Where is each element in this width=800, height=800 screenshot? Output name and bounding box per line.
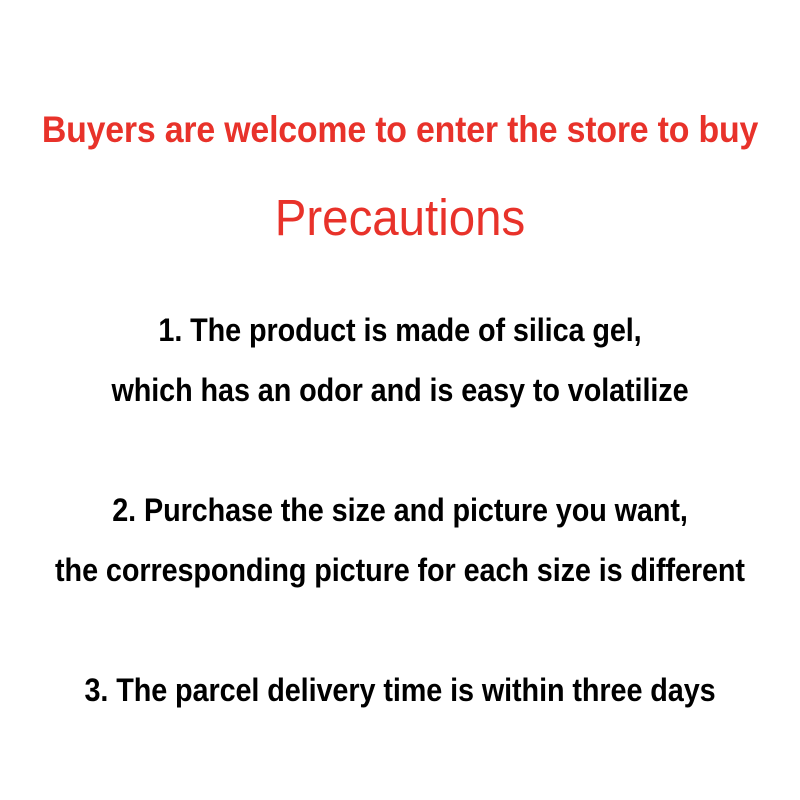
precaution-1-line-2: which has an odor and is easy to volatil… — [40, 360, 760, 420]
precaution-3-line-1: 3. The parcel delivery time is within th… — [40, 660, 760, 720]
precaution-2-line-2: the corresponding picture for each size … — [40, 540, 760, 600]
precaution-1-line-1: 1. The product is made of silica gel, — [40, 300, 760, 360]
precaution-item-2: 2. Purchase the size and picture you wan… — [0, 480, 800, 600]
precaution-item-3: 3. The parcel delivery time is within th… — [0, 660, 800, 720]
welcome-heading: Buyers are welcome to enter the store to… — [34, 111, 766, 148]
precaution-2-line-1: 2. Purchase the size and picture you wan… — [40, 480, 760, 540]
precaution-item-1: 1. The product is made of silica gel, wh… — [0, 300, 800, 420]
precautions-notice-page: Buyers are welcome to enter the store to… — [0, 0, 800, 800]
precautions-list: 1. The product is made of silica gel, wh… — [0, 300, 800, 720]
precautions-title: Precautions — [28, 192, 772, 243]
